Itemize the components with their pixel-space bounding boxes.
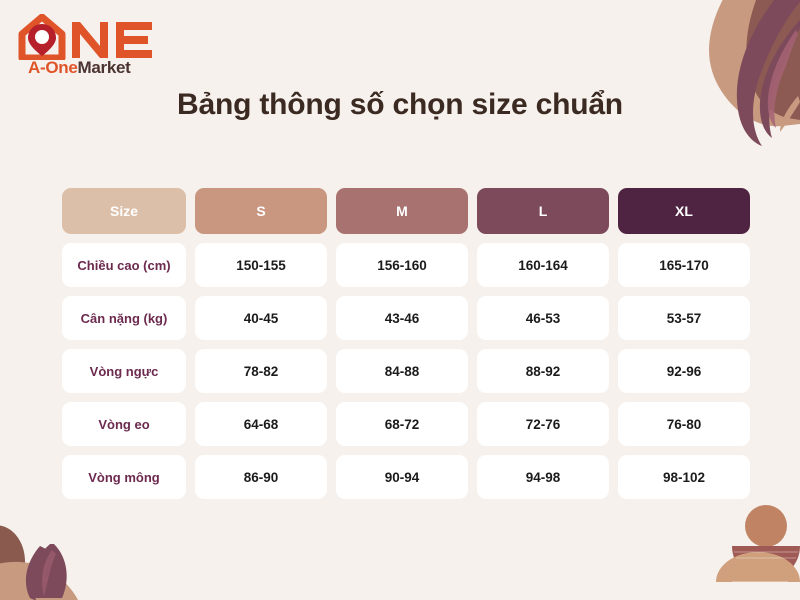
header-cell-s: S (195, 188, 327, 234)
table-cell: 150-155 (195, 243, 327, 287)
brand-logo[interactable]: A-OneMarket (16, 14, 166, 80)
brand-name-part2: Market (78, 58, 131, 77)
table-cell: 88-92 (477, 349, 609, 393)
row-label: Chiều cao (cm) (62, 243, 186, 287)
header-cell-size: Size (62, 188, 186, 234)
brand-name: A-OneMarket (28, 58, 131, 78)
page-title: Bảng thông số chọn size chuẩn (0, 88, 800, 122)
table-cell: 76-80 (618, 402, 750, 446)
size-chart-table: Size S M L XL Chiều cao (cm)150-155156-1… (62, 188, 738, 499)
table-cell: 46-53 (477, 296, 609, 340)
table-cell: 98-102 (618, 455, 750, 499)
header-cell-l: L (477, 188, 609, 234)
table-cell: 86-90 (195, 455, 327, 499)
row-label: Vòng mông (62, 455, 186, 499)
row-label: Vòng ngực (62, 349, 186, 393)
table-cell: 53-57 (618, 296, 750, 340)
table-row: Vòng eo64-6868-7272-7676-80 (62, 402, 738, 446)
header-cell-m: M (336, 188, 468, 234)
table-cell: 165-170 (618, 243, 750, 287)
table-row: Vòng ngực78-8284-8888-9292-96 (62, 349, 738, 393)
table-cell: 160-164 (477, 243, 609, 287)
table-cell: 43-46 (336, 296, 468, 340)
table-cell: 72-76 (477, 402, 609, 446)
table-header-row: Size S M L XL (62, 188, 738, 234)
table-cell: 94-98 (477, 455, 609, 499)
row-label: Cân nặng (kg) (62, 296, 186, 340)
table-row: Cân nặng (kg)40-4543-4646-5353-57 (62, 296, 738, 340)
brand-name-part1: A-One (28, 58, 78, 77)
table-cell: 84-88 (336, 349, 468, 393)
table-cell: 92-96 (618, 349, 750, 393)
table-cell: 78-82 (195, 349, 327, 393)
table-cell: 90-94 (336, 455, 468, 499)
size-chart-page: A-OneMarket Bảng thông số chọn size chuẩ… (0, 0, 800, 600)
house-location-pin-icon (16, 14, 162, 60)
row-label: Vòng eo (62, 402, 186, 446)
header-cell-xl: XL (618, 188, 750, 234)
table-cell: 68-72 (336, 402, 468, 446)
table-cell: 40-45 (195, 296, 327, 340)
table-row: Vòng mông86-9090-9494-9898-102 (62, 455, 738, 499)
table-body: Chiều cao (cm)150-155156-160160-164165-1… (62, 243, 738, 499)
table-cell: 64-68 (195, 402, 327, 446)
table-row: Chiều cao (cm)150-155156-160160-164165-1… (62, 243, 738, 287)
table-cell: 156-160 (336, 243, 468, 287)
